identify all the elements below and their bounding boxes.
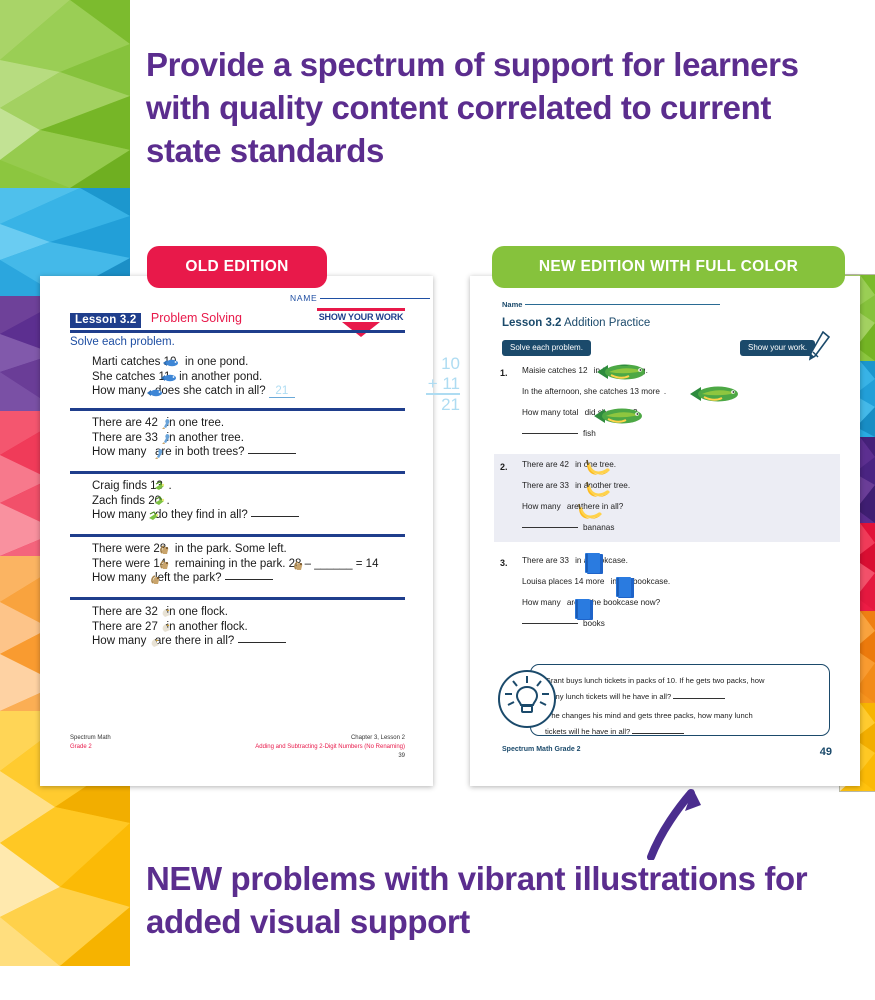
challenge-problem-box: Grant buys lunch tickets in packs of 10.… — [530, 664, 830, 736]
old-p2-line1: There are 42 in one tree. — [92, 417, 224, 429]
banana-icon — [583, 458, 615, 480]
old-p1-line3: How many does she catch in all? — [92, 385, 266, 397]
problem-divider — [70, 408, 405, 411]
squirrel-icon — [159, 544, 172, 556]
work-addend-2: + 11 — [400, 374, 460, 394]
old-p4-answer-blank — [225, 579, 273, 580]
fish-icon — [592, 406, 644, 426]
lightbulb-badge — [498, 670, 556, 728]
old-problem-3: Craig finds 13 . Zach finds 20 . How man… — [70, 480, 405, 524]
fish-icon — [160, 373, 177, 383]
new-p3-line1: There are 33 in a bookcase. — [522, 556, 628, 565]
footer-series: Spectrum Math — [70, 734, 111, 743]
old-p3-answer-blank — [251, 516, 299, 517]
footer-grade: Grade 2 — [70, 743, 111, 752]
old-p1-line2: She catches 11 in another pond. — [92, 371, 262, 383]
lesson-number-tag: Lesson 3.2 — [70, 313, 141, 329]
lesson-header: Lesson 3.2 Addition Practice — [502, 317, 650, 329]
book-icon — [573, 598, 595, 622]
new-p2-answer-unit: bananas — [583, 523, 614, 532]
banana-icon — [583, 480, 615, 502]
name-write-line — [320, 298, 430, 299]
new-p2-answer-blank — [522, 527, 578, 528]
fish-icon — [146, 388, 163, 398]
challenge-answer-blank-2 — [632, 733, 684, 734]
old-p2-answer-blank — [248, 453, 296, 454]
solve-each-problem-pill: Solve each problem. — [502, 340, 591, 356]
top-headline: Provide a spectrum of support for learne… — [146, 44, 836, 173]
new-edition-badge: NEW EDITION WITH FULL COLOR — [492, 246, 845, 288]
name-write-line — [525, 304, 720, 305]
problem-number: 1. — [500, 368, 508, 378]
old-p4-line2: There were 14 remaining in the park. 28 … — [92, 558, 378, 570]
fish-icon — [595, 362, 647, 382]
challenge-line4: tickets will he have in all? — [545, 727, 630, 736]
footer-left: Spectrum Math Grade 2 — [70, 734, 111, 752]
new-p3-answer-blank — [522, 623, 578, 624]
new-p2-line3: How many are there in all? — [522, 502, 623, 511]
curved-arrow-icon — [645, 785, 715, 860]
new-p3-line2: Louisa places 14 more in the bookcase. — [522, 577, 670, 586]
new-p1-answer-blank — [522, 433, 578, 434]
goose-icon — [159, 622, 173, 634]
instruction-text: Solve each problem. — [70, 336, 175, 348]
problem-number: 3. — [500, 558, 508, 568]
bird-icon — [160, 418, 173, 430]
book-icon — [614, 576, 636, 600]
old-page-footer: Spectrum Math Grade 2 Chapter 3, Lesson … — [70, 734, 405, 761]
footer-page-number: 49 — [820, 746, 832, 758]
old-problem-2: There are 42 in one tree. There are 33 i… — [70, 417, 405, 461]
goose-icon — [148, 637, 162, 649]
new-problem-2: 2. There are 42 in one tree. There are 3… — [494, 454, 840, 542]
old-p5-line3: How many are there in all? — [92, 635, 234, 647]
name-field-label: Name — [502, 300, 720, 309]
old-problem-1: Marti catches 10 in one pond. She catche… — [70, 356, 405, 401]
challenge-line1: Grant buys lunch tickets in packs of 10.… — [545, 676, 765, 685]
book-icon — [583, 552, 605, 576]
work-addend-1: 10 — [400, 354, 460, 374]
new-problem-3: 3. There are 33 in a bookcase. Louisa pl… — [494, 550, 840, 638]
footer-topic: Adding and Subtracting 2-Digit Numbers (… — [255, 743, 405, 752]
old-edition-worksheet-page: NAME Lesson 3.2 Problem Solving SHOW YOU… — [40, 276, 433, 786]
pencil-icon — [807, 331, 831, 361]
problem-number: 2. — [500, 462, 508, 472]
bottom-headline: NEW problems with vibrant illustrations … — [146, 858, 836, 944]
fish-icon — [162, 358, 179, 368]
new-p1-answer-unit: fish — [583, 429, 596, 438]
footer-chapter-lesson: Chapter 3, Lesson 2 — [255, 734, 405, 743]
grasshopper-icon — [153, 496, 166, 507]
color-band-green — [0, 0, 130, 188]
bird-icon — [153, 448, 166, 460]
new-edition-worksheet-page: Name Lesson 3.2 Addition Practice Solve … — [470, 276, 860, 786]
bird-icon — [160, 433, 173, 445]
new-p1-line2: In the afternoon, she catches 13 more . — [522, 387, 666, 396]
lightbulb-icon — [500, 672, 554, 726]
grasshopper-icon — [147, 511, 160, 522]
problem-divider — [70, 534, 405, 537]
old-p4-line1: There were 28 in the park. Some left. — [92, 543, 287, 555]
old-problem-5: There are 32 in one flock. There are 27 … — [70, 606, 405, 650]
header-divider — [70, 330, 405, 333]
old-edition-badge: OLD EDITION — [147, 246, 327, 288]
show-your-work-label: SHOW YOUR WORK — [317, 311, 405, 322]
old-p3-line3: How many do they find in all? — [92, 509, 248, 521]
show-your-work-banner: SHOW YOUR WORK — [317, 308, 405, 337]
footer-page-number: 39 — [255, 752, 405, 761]
old-problem-4: There were 28 in the park. Some left. Th… — [70, 543, 405, 587]
old-p1-answer: 21 — [269, 385, 295, 398]
old-p2-line3: How many are in both trees? — [92, 446, 245, 458]
work-total: 21 — [400, 395, 460, 415]
lesson-title: Problem Solving — [151, 311, 242, 325]
new-page-footer: 49 Spectrum Math Grade 2 — [502, 746, 832, 758]
lesson-title: Addition Practice — [564, 317, 650, 329]
challenge-line3: If he changes his mind and gets three pa… — [545, 711, 753, 720]
grasshopper-icon — [153, 481, 166, 492]
problem-divider — [70, 471, 405, 474]
banana-icon — [575, 502, 607, 524]
squirrel-icon — [150, 574, 163, 586]
old-p1-vertical-work: 10 + 11 21 — [400, 354, 460, 415]
challenge-line2: many lunch tickets will he have in all? — [545, 692, 671, 701]
squirrel-icon — [159, 559, 172, 571]
footer-series: Spectrum Math Grade 2 — [502, 746, 581, 753]
squirrel-icon — [293, 559, 307, 572]
goose-icon — [159, 607, 173, 619]
fish-icon — [688, 384, 740, 404]
lesson-number-tag: Lesson 3.2 — [502, 317, 561, 329]
old-p5-answer-blank — [238, 642, 286, 643]
footer-right: Chapter 3, Lesson 2 Adding and Subtracti… — [255, 734, 405, 761]
challenge-answer-blank-1 — [673, 698, 725, 699]
name-field-label: NAME — [290, 293, 430, 303]
show-your-work-pill: Show your work. — [740, 340, 815, 356]
new-problem-1: 1. Maisie catches 12 in the morning. In … — [494, 360, 840, 448]
problem-divider — [70, 597, 405, 600]
